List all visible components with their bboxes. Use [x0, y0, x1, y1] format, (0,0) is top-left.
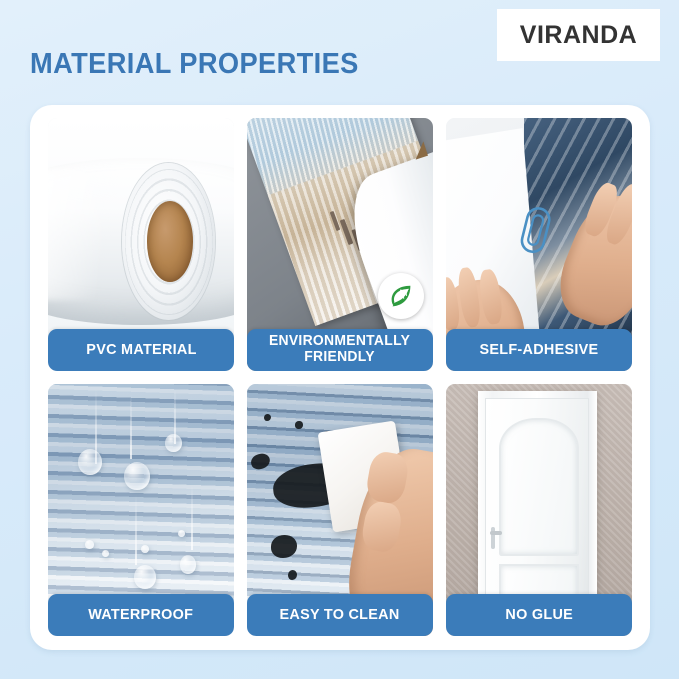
label-line: WATERPROOF: [88, 607, 193, 622]
feature-label-self-adhesive: SELF-ADHESIVE: [446, 329, 632, 371]
feature-label-pvc-material: PVC MATERIAL: [48, 329, 234, 371]
feature-panel: PVC MATERIAL: [30, 105, 650, 650]
leaf-badge: [378, 273, 424, 319]
feature-card-easy-to-clean[interactable]: EASY TO CLEAN: [247, 384, 433, 637]
brand-logo-box: VIRANDA: [497, 9, 660, 61]
feature-label-no-glue: NO GLUE: [446, 594, 632, 636]
label-line: FRIENDLY: [269, 350, 410, 365]
feature-card-environmentally-friendly[interactable]: ENVIRONMENTALLY FRIENDLY: [247, 118, 433, 371]
feature-label-easy-to-clean: EASY TO CLEAN: [247, 594, 433, 636]
feature-card-no-glue[interactable]: NO GLUE: [446, 384, 632, 637]
feature-label-environmentally-friendly: ENVIRONMENTALLY FRIENDLY: [247, 329, 433, 371]
feature-label-waterproof: WATERPROOF: [48, 594, 234, 636]
label-line: NO GLUE: [505, 607, 573, 622]
label-line: ENVIRONMENTALLY: [269, 334, 410, 349]
leaf-icon: [386, 281, 416, 311]
feature-grid: PVC MATERIAL: [48, 118, 632, 636]
feature-card-self-adhesive[interactable]: SELF-ADHESIVE: [446, 118, 632, 371]
page-title: MATERIAL PROPERTIES: [30, 48, 359, 81]
label-line: SELF-ADHESIVE: [480, 342, 599, 357]
feature-card-waterproof[interactable]: WATERPROOF: [48, 384, 234, 637]
infographic-page: VIRANDA MATERIAL PROPERTIES PVC MATERIAL: [0, 0, 679, 679]
brand-name: VIRANDA: [520, 21, 637, 50]
feature-card-pvc-material[interactable]: PVC MATERIAL: [48, 118, 234, 371]
label-line: PVC MATERIAL: [86, 342, 196, 357]
label-line: EASY TO CLEAN: [280, 607, 400, 622]
